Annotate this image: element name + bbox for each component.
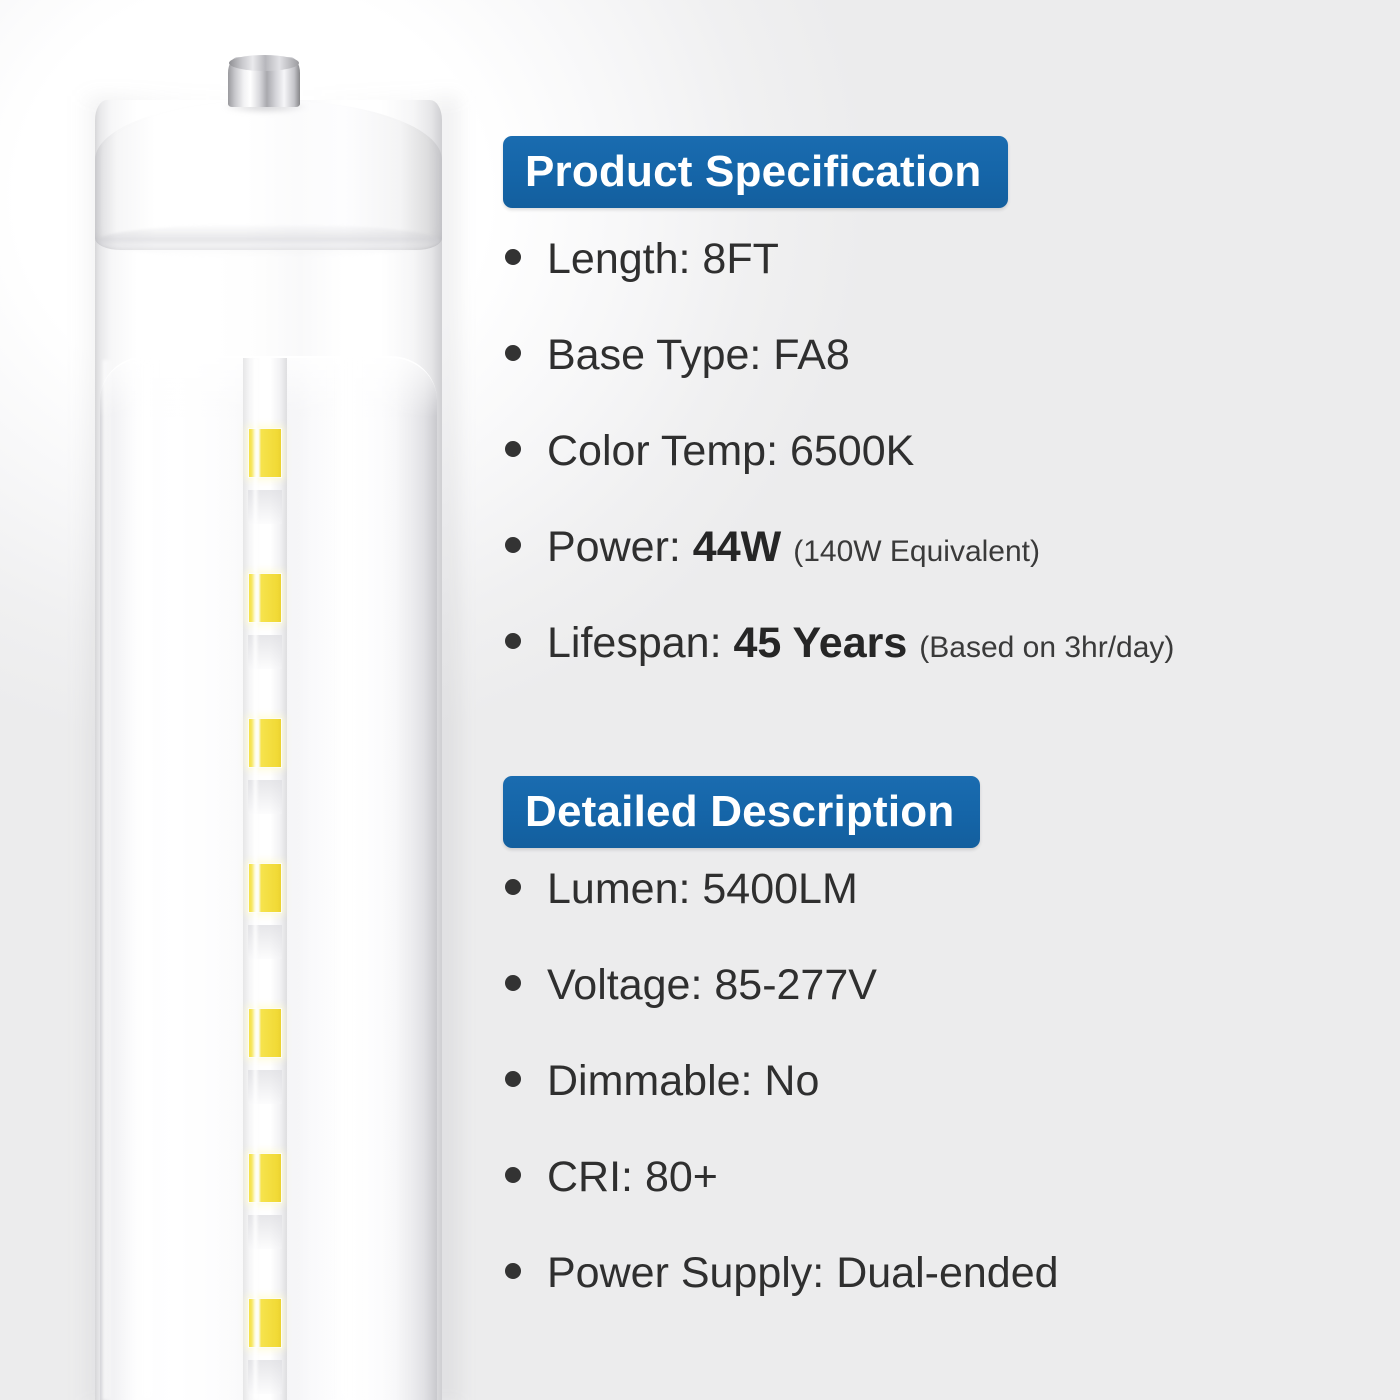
section-heading-detailed-description: Detailed Description [503, 776, 980, 848]
spec-list-item: Voltage: 85-277V [495, 964, 1400, 1060]
section-heading-product-specification: Product Specification [503, 136, 1008, 208]
specification-panel: Product Specification Length: 8FTBase Ty… [495, 0, 1400, 1400]
led-strip-specular-highlight [252, 358, 259, 1400]
bullet-icon [505, 249, 521, 265]
spec-item-text: Power: 44W [547, 526, 781, 569]
spec-list-item: Power: 44W(140W Equivalent) [495, 526, 1400, 622]
spec-list-item: Base Type: FA8 [495, 334, 1400, 430]
spec-item-text: Length: 8FT [547, 238, 779, 281]
spec-item-note: (140W Equivalent) [793, 535, 1040, 569]
bullet-icon [505, 1167, 521, 1183]
bullet-icon [505, 879, 521, 895]
product-specification-list: Length: 8FTBase Type: FA8Color Temp: 650… [495, 238, 1400, 718]
bullet-icon [505, 441, 521, 457]
spec-item-text: Lumen: 5400LM [547, 868, 858, 911]
spec-list-item: Length: 8FT [495, 238, 1400, 334]
lens-gloss-band-right [330, 360, 364, 1400]
section-heading-label: Product Specification [525, 150, 982, 194]
detailed-description-list: Lumen: 5400LMVoltage: 85-277VDimmable: N… [495, 868, 1400, 1348]
spec-list-item: Lifespan: 45 Years(Based on 3hr/day) [495, 622, 1400, 718]
bullet-icon [505, 345, 521, 361]
spec-list-item: Dimmable: No [495, 1060, 1400, 1156]
spec-item-label: Lifespan: [547, 619, 733, 667]
bullet-icon [505, 633, 521, 649]
spec-item-text: Voltage: 85-277V [547, 964, 877, 1007]
product-spec-infographic: Product Specification Length: 8FTBase Ty… [0, 0, 1400, 1400]
spec-list-item: Power Supply: Dual-ended [495, 1252, 1400, 1348]
spec-item-text: Power Supply: Dual-ended [547, 1252, 1059, 1295]
bullet-icon [505, 1071, 521, 1087]
lens-gloss-band-left [134, 360, 160, 1400]
end-cap-seam-line [97, 224, 440, 258]
spec-item-text: Base Type: FA8 [547, 334, 850, 377]
spec-item-text: Lifespan: 45 Years [547, 622, 907, 665]
spec-item-note: (Based on 3hr/day) [919, 631, 1174, 665]
spec-list-item: CRI: 80+ [495, 1156, 1400, 1252]
spec-list-item: Color Temp: 6500K [495, 430, 1400, 526]
led-tube-product-image [0, 0, 470, 1400]
base-pin-top-ellipse [229, 55, 299, 71]
bullet-icon [505, 537, 521, 553]
spec-item-value: 44W [693, 523, 781, 571]
spec-list-item: Lumen: 5400LM [495, 868, 1400, 964]
section-heading-label: Detailed Description [525, 790, 954, 834]
lens-left-edge-gloss [103, 360, 112, 1400]
spec-item-value: 45 Years [733, 619, 907, 667]
spec-item-text: Color Temp: 6500K [547, 430, 914, 473]
bullet-icon [505, 975, 521, 991]
spec-item-text: Dimmable: No [547, 1060, 819, 1103]
spec-item-text: CRI: 80+ [547, 1156, 718, 1199]
bullet-icon [505, 1263, 521, 1279]
spec-item-label: Power: [547, 523, 693, 571]
